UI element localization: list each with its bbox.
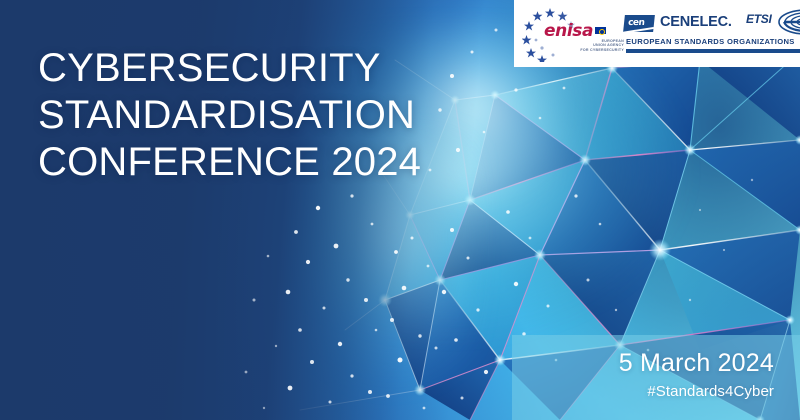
event-hashtag: #Standards4Cyber xyxy=(647,383,774,400)
headline-line-3: CONFERENCE 2024 xyxy=(38,139,421,186)
enisa-wordmark: enisa xyxy=(544,23,593,40)
page-title: CYBERSECURITY STANDARDISATION CONFERENCE… xyxy=(38,45,421,186)
logo-bar: enisa EUROPEAN UNION AGENCY FOR CYBERSEC… xyxy=(514,0,800,67)
headline-line-2: STANDARDISATION xyxy=(38,92,421,139)
cenelec-wordmark: CENELEC. xyxy=(660,14,732,30)
enisa-subtitle: EUROPEAN UNION AGENCY FOR CYBERSECURITY xyxy=(566,39,624,53)
eso-underline-rule xyxy=(626,49,800,53)
conference-poster: CYBERSECURITY STANDARDISATION CONFERENCE… xyxy=(0,0,800,420)
eu-flag-icon xyxy=(594,26,607,35)
cen-wordmark: cen xyxy=(628,18,645,28)
cen-logo-icon: cen xyxy=(623,15,655,32)
etsi-globe-icon xyxy=(776,9,800,35)
enisa-logo: enisa EUROPEAN UNION AGENCY FOR CYBERSEC… xyxy=(522,6,622,62)
event-date: 5 March 2024 xyxy=(619,349,774,378)
european-standards-organizations-logo: cen CENELEC. ETSI EUROPEAN STANDARDS ORG… xyxy=(624,6,800,62)
eso-caption: EUROPEAN STANDARDS ORGANIZATIONS xyxy=(626,37,795,46)
headline-line-1: CYBERSECURITY xyxy=(38,45,421,92)
event-date-panel: 5 March 2024 #Standards4Cyber xyxy=(512,335,800,420)
enisa-subtitle-line-3: FOR CYBERSECURITY xyxy=(566,48,624,53)
etsi-wordmark: ETSI xyxy=(746,12,771,26)
